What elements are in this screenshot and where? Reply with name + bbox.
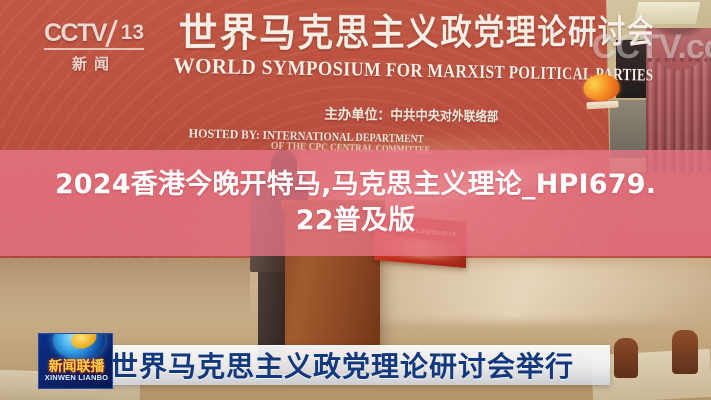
video-frame: 世界马克思主义政党理论研讨会 WORLD SYMPOSIUM FOR MARXI… (0, 0, 711, 400)
overlay-title-text: 2024香港今晚开特马,马克思主义理论_HPI679.22普及版 (0, 150, 711, 256)
xinwen-lianbo-logo: 新闻联播 XINWEN LIANBO (38, 333, 113, 389)
chair-right (672, 330, 698, 374)
cctv-channel-name-cn: 新闻 (44, 53, 144, 74)
cctv-com-watermark: CCTV.com (592, 28, 711, 67)
cctv-wordmark: CCTV (44, 19, 106, 48)
stage-floor-shadow (0, 258, 250, 318)
backdrop-emblem-icon (581, 71, 623, 113)
stage-floor-highlight (330, 262, 711, 322)
backdrop-title-cn: 世界马克思主义政党理论研讨会 (179, 1, 656, 59)
chair-left (614, 338, 638, 378)
lower-third-headline: 世界马克思主义政党理论研讨会举行 (110, 345, 610, 385)
emblem-base-bar (586, 101, 618, 110)
cctv13-channel-logo: CCTV 13 新闻 (44, 20, 144, 72)
xinwen-lianbo-label-en: XINWEN LIANBO (39, 373, 113, 382)
emblem-blob-shape (583, 74, 620, 102)
backdrop-host-cn: 主办单位：中共中央对外联络部 (324, 104, 498, 126)
cctv13-logo-row: CCTV 13 (44, 20, 144, 46)
cctv-logo-underline (44, 48, 144, 50)
